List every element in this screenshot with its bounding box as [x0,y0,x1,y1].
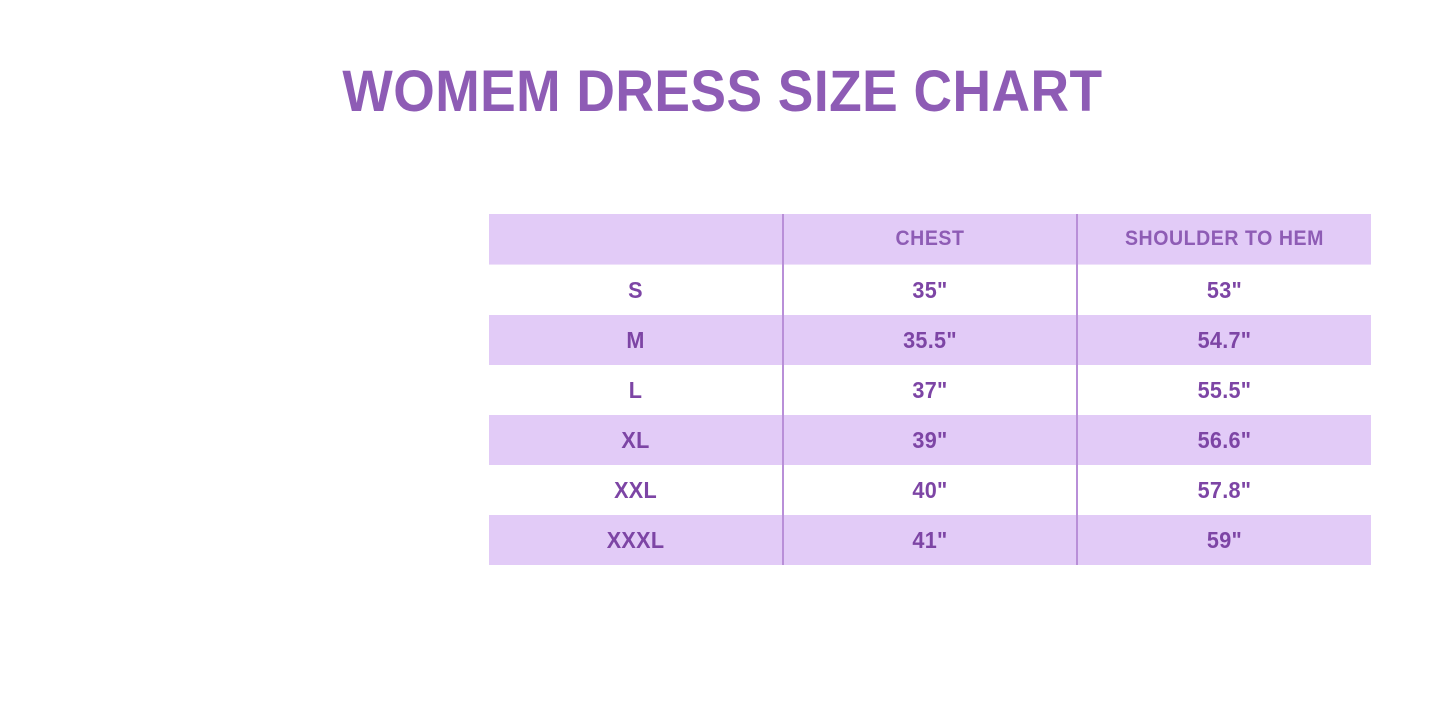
cell-size: XL [498,415,774,465]
cell-chest: 35" [792,265,1068,316]
cell-chest: 41" [792,515,1068,565]
table-row: L 37" 55.5" [489,365,1371,415]
table-row: XXL 40" 57.8" [489,465,1371,515]
column-header-size [499,214,772,265]
cell-shoulder-to-hem: 53" [1086,265,1362,316]
cell-chest: 40" [792,465,1068,515]
table-row: XL 39" 56.6" [489,415,1371,465]
cell-size: XXL [498,465,774,515]
table-body: S 35" 53" M 35.5" 54.7" L 37" 55.5" XL 3… [489,265,1371,566]
cell-shoulder-to-hem: 59" [1086,515,1362,565]
table-header: CHEST SHOULDER TO HEM [489,214,1371,265]
table-row: M 35.5" 54.7" [489,315,1371,365]
table-row: XXXL 41" 59" [489,515,1371,565]
cell-shoulder-to-hem: 55.5" [1086,365,1362,415]
cell-size: L [498,365,774,415]
cell-chest: 35.5" [792,315,1068,365]
table-row: S 35" 53" [489,265,1371,316]
cell-shoulder-to-hem: 54.7" [1086,315,1362,365]
column-header-chest: CHEST [793,214,1066,265]
cell-shoulder-to-hem: 56.6" [1086,415,1362,465]
size-chart-table: CHEST SHOULDER TO HEM S 35" 53" M 35.5" … [489,214,1371,565]
size-chart-page: WOMEM DRESS SIZE CHART CHEST SHOULDER TO… [0,0,1445,723]
cell-chest: 39" [792,415,1068,465]
column-header-shoulder-to-hem: SHOULDER TO HEM [1087,214,1360,265]
cell-size: XXXL [498,515,774,565]
cell-size: S [498,265,774,316]
cell-chest: 37" [792,365,1068,415]
cell-size: M [498,315,774,365]
page-title: WOMEM DRESS SIZE CHART [58,57,1387,127]
table-header-row: CHEST SHOULDER TO HEM [489,214,1371,265]
cell-shoulder-to-hem: 57.8" [1086,465,1362,515]
